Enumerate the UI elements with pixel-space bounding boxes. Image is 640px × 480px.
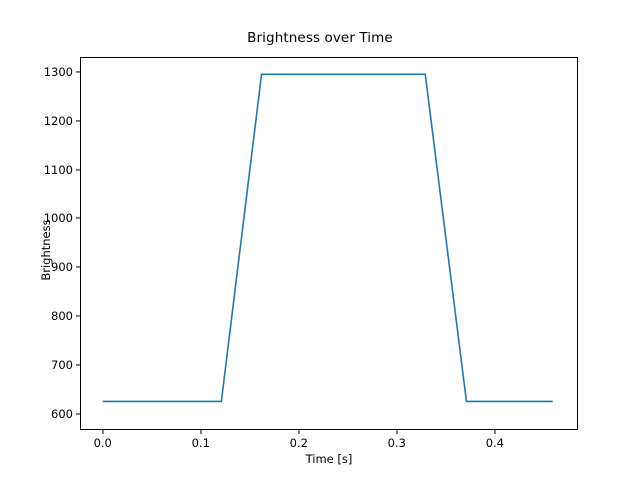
x-tick-label: 0.4: [465, 436, 525, 450]
y-tick-mark: [76, 315, 80, 316]
y-axis-label: Brightness: [39, 190, 53, 310]
x-tick-label: 0.0: [73, 436, 133, 450]
x-tick-label: 0.1: [171, 436, 231, 450]
y-tick-mark: [76, 267, 80, 268]
y-tick-label: 1300: [13, 65, 73, 79]
x-tick-label: 0.3: [367, 436, 427, 450]
x-axis-label: Time [s]: [80, 452, 578, 466]
data-series-brightness: [103, 74, 553, 401]
x-tick-mark: [396, 430, 397, 434]
x-tick-mark: [298, 430, 299, 434]
figure-canvas: Brightness over Time 6007008009001000110…: [0, 0, 640, 480]
x-tick-mark: [102, 430, 103, 434]
y-tick-mark: [76, 218, 80, 219]
y-tick-mark: [76, 169, 80, 170]
plot-area: [80, 57, 578, 430]
page-title: Brightness over Time: [0, 30, 640, 46]
y-tick-mark: [76, 120, 80, 121]
y-tick-label: 1100: [13, 163, 73, 177]
y-tick-mark: [76, 413, 80, 414]
x-tick-label: 0.2: [269, 436, 329, 450]
y-tick-label: 600: [13, 407, 73, 421]
y-tick-mark: [76, 71, 80, 72]
y-tick-mark: [76, 364, 80, 365]
y-tick-label: 1200: [13, 114, 73, 128]
x-tick-mark: [200, 430, 201, 434]
x-tick-mark: [494, 430, 495, 434]
y-tick-label: 700: [13, 358, 73, 372]
y-tick-label: 800: [13, 309, 73, 323]
